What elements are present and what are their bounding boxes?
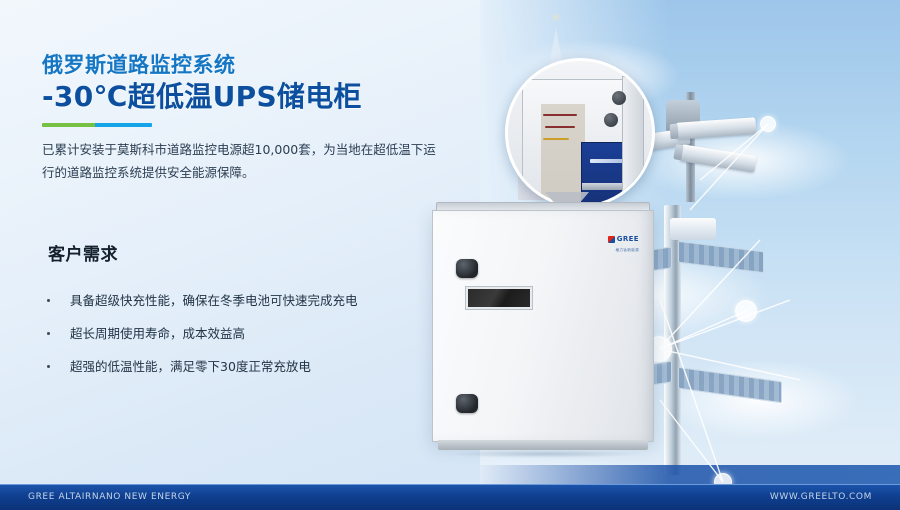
solar-panel-icon [678,367,782,404]
camera-pole [686,92,695,202]
inset-cabinet-shell [522,79,626,195]
bullet-dot-icon [47,365,50,368]
requirements-list: 具备超级快充性能，确保在冬季电池可快速完成充电 超长周期使用寿命，成本效益高 超… [44,292,444,390]
cabinet-interior-inset-photo [505,58,655,208]
list-item-label: 超长周期使用寿命，成本效益高 [70,326,245,341]
accent-divider [42,123,152,127]
page-subtitle: 俄罗斯道路监控系统 [42,52,462,78]
gree-logo-word: GREE [617,236,639,243]
list-item-label: 具备超级快充性能，确保在冬季电池可快速完成充电 [70,293,358,308]
list-item-label: 超强的低温性能，满足零下30度正常充放电 [70,359,311,374]
section-heading: 客户需求 [48,240,118,265]
hotspot-node[interactable] [735,300,757,322]
product-cabinet-image: GREE 格力钛新能源 [432,202,654,454]
gree-logo: GREE 格力钛新能源 [608,231,639,253]
list-item: 超强的低温性能，满足零下30度正常充放电 [44,358,444,377]
hotspot-node[interactable] [760,116,776,132]
bare-tree-image [772,300,882,480]
gree-logo-mark-icon [608,236,615,243]
cabinet-lock-knob-icon [456,394,478,413]
tower-star-icon [551,12,561,22]
page-title: -30℃超低温UPS储电柜 [42,80,462,114]
solar-panel-icon [678,241,764,274]
footer-company-name: GREE ALTAIRNANO NEW ENERGY [28,492,191,502]
cabinet-shadow [446,450,642,458]
camera-housing [666,100,700,134]
inset-wire [543,138,569,140]
intro-paragraph: 已累计安装于莫斯科市道路监控电源超10,000套，为当地在超低温下运行的道路监控… [42,138,442,184]
header-text-block: 俄罗斯道路监控系统 -30℃超低温UPS储电柜 已累计安装于莫斯科市道路监控电源… [42,52,462,184]
inset-wire [545,126,575,128]
sensor-box [670,218,716,240]
cloud-shape [660,360,860,440]
bullet-dot-icon [47,332,50,335]
surveillance-camera-icon [679,144,757,173]
slide-root: GREE 格力钛新能源 俄罗斯道路监控系统 -30℃超低温UPS储电柜 已累计安… [0,0,900,510]
surveillance-camera-icon [676,117,757,140]
cabinet-display-window [466,287,532,309]
inset-wire [543,114,577,116]
footer-website[interactable]: WWW.GREELTO.COM [770,492,872,502]
list-item: 具备超级快充性能，确保在冬季电池可快速完成充电 [44,292,444,311]
cabinet-lock-knob-icon [456,259,478,278]
gree-logo-subtext: 格力钛新能源 [608,249,639,253]
bullet-dot-icon [47,299,50,302]
cabinet-door-face: GREE 格力钛新能源 [432,210,654,442]
footer-bar: GREE ALTAIRNANO NEW ENERGY WWW.GREELTO.C… [0,484,900,510]
cabinet-base [438,440,648,450]
inset-knob-icon [612,91,626,105]
cloud-shape [630,120,850,200]
list-item: 超长周期使用寿命，成本效益高 [44,325,444,344]
inset-knob-icon [604,113,618,127]
